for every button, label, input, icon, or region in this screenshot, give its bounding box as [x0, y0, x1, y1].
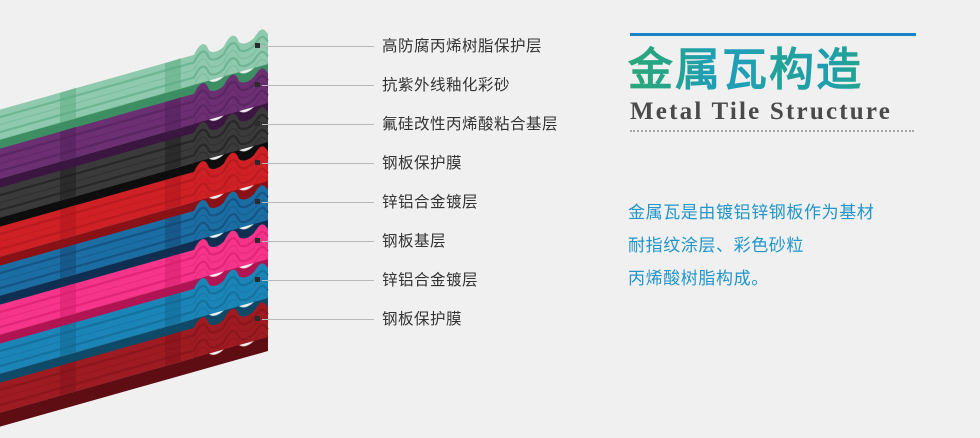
page-subtitle: Metal Tile Structure	[630, 98, 892, 126]
callout-marker-icon	[255, 316, 260, 321]
leader-line	[262, 163, 374, 164]
callout-row: 锌铝合金镀层	[0, 270, 620, 292]
callout-row: 高防腐丙烯树脂保护层	[0, 36, 620, 58]
callout-label: 钢板保护膜	[382, 153, 462, 175]
callout-marker-icon	[255, 277, 260, 282]
callout-marker-icon	[255, 160, 260, 165]
callout-marker-icon	[255, 199, 260, 204]
callout-row: 钢板保护膜	[0, 309, 620, 331]
leader-line	[262, 280, 374, 281]
leader-line	[262, 319, 374, 320]
callout-marker-icon	[255, 82, 260, 87]
leader-line	[262, 124, 374, 125]
callout-label: 氟硅改性丙烯酸粘合基层	[382, 114, 558, 136]
callout-list: 高防腐丙烯树脂保护层 抗紫外线釉化彩砂 氟硅改性丙烯酸粘合基层 钢板保护膜 锌铝…	[0, 0, 620, 438]
callout-marker-icon	[255, 43, 260, 48]
callout-row: 钢板基层	[0, 231, 620, 253]
callout-row: 抗紫外线釉化彩砂	[0, 75, 620, 97]
callout-row: 氟硅改性丙烯酸粘合基层	[0, 114, 620, 136]
callout-label: 抗紫外线釉化彩砂	[382, 75, 510, 97]
metal-tile-structure-infographic: 高防腐丙烯树脂保护层 抗紫外线釉化彩砂 氟硅改性丙烯酸粘合基层 钢板保护膜 锌铝…	[0, 0, 980, 438]
callout-marker-icon	[255, 238, 260, 243]
title-panel: 金属瓦构造 Metal Tile Structure 金属瓦是由镀铝锌钢板作为基…	[628, 0, 958, 438]
leader-line	[262, 202, 374, 203]
callout-label: 高防腐丙烯树脂保护层	[382, 36, 542, 58]
leader-line	[262, 46, 374, 47]
callout-row: 钢板保护膜	[0, 153, 620, 175]
callout-label: 钢板保护膜	[382, 309, 462, 331]
paragraph-line: 耐指纹涂层、彩色砂粒	[628, 229, 958, 262]
top-rule-divider	[630, 33, 916, 36]
paragraph-line: 丙烯酸树脂构成。	[628, 262, 958, 295]
description-paragraph: 金属瓦是由镀铝锌钢板作为基材 耐指纹涂层、彩色砂粒 丙烯酸树脂构成。	[628, 196, 958, 295]
leader-line	[262, 85, 374, 86]
callout-label: 锌铝合金镀层	[382, 192, 478, 214]
dotted-divider	[630, 130, 914, 132]
callout-label: 锌铝合金镀层	[382, 270, 478, 292]
page-title: 金属瓦构造	[628, 42, 863, 98]
leader-line	[262, 241, 374, 242]
callout-label: 钢板基层	[382, 231, 446, 253]
callout-marker-icon	[255, 121, 260, 126]
callout-row: 锌铝合金镀层	[0, 192, 620, 214]
paragraph-line: 金属瓦是由镀铝锌钢板作为基材	[628, 196, 958, 229]
